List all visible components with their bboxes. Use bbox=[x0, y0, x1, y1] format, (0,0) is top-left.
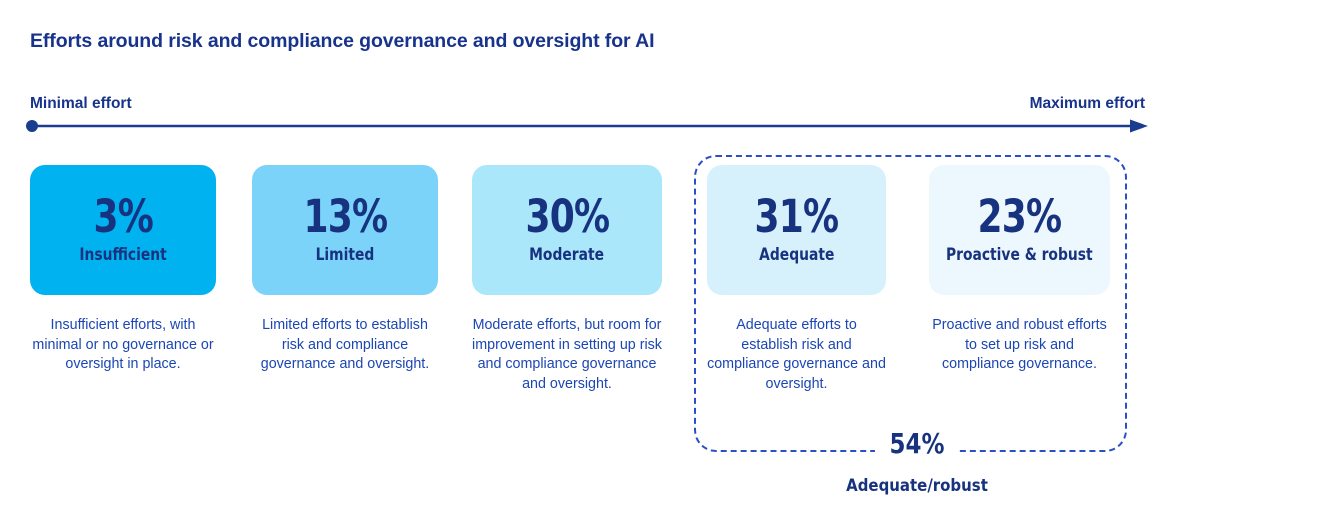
effort-card-limited[interactable]: 13% Limited Limited efforts to establish… bbox=[252, 165, 438, 375]
effort-percent: 23% bbox=[978, 196, 1062, 239]
effort-level-name: Insufficient bbox=[79, 245, 166, 264]
effort-card-adequate[interactable]: 31% Adequate Adequate efforts to establi… bbox=[707, 165, 886, 395]
effort-description: Limited efforts to establish risk and co… bbox=[252, 316, 438, 375]
effort-percent: 31% bbox=[755, 196, 839, 239]
effort-card-proactive-robust[interactable]: 23% Proactive & robust Proactive and rob… bbox=[929, 165, 1110, 375]
effort-tile-limited[interactable]: 13% Limited bbox=[252, 165, 438, 295]
effort-level-name: Moderate bbox=[530, 245, 605, 264]
effort-card-insufficient[interactable]: 3% Insufficient Insufficient efforts, wi… bbox=[30, 165, 216, 375]
effort-description: Adequate efforts to establish risk and c… bbox=[707, 316, 886, 395]
effort-description: Moderate efforts, but room for improveme… bbox=[467, 316, 667, 395]
effort-tile-proactive-robust[interactable]: 23% Proactive & robust bbox=[929, 165, 1110, 295]
group-total-percent: 54% bbox=[880, 430, 954, 458]
effort-percent: 3% bbox=[93, 196, 153, 239]
effort-level-name: Adequate bbox=[759, 245, 834, 264]
effort-description: Proactive and robust efforts to set up r… bbox=[929, 316, 1110, 375]
effort-level-name: Proactive & robust bbox=[946, 245, 1093, 264]
effort-percent: 13% bbox=[303, 196, 387, 239]
effort-tile-adequate[interactable]: 31% Adequate bbox=[707, 165, 886, 295]
effort-description: Insufficient efforts, with minimal or no… bbox=[30, 316, 216, 375]
effort-tile-insufficient[interactable]: 3% Insufficient bbox=[30, 165, 216, 295]
effort-cards-band: 3% Insufficient Insufficient efforts, wi… bbox=[0, 0, 1335, 519]
effort-tile-moderate[interactable]: 30% Moderate bbox=[472, 165, 662, 295]
effort-percent: 30% bbox=[525, 196, 609, 239]
group-total-label: Adequate/robust bbox=[811, 476, 1022, 496]
effort-card-moderate[interactable]: 30% Moderate Moderate efforts, but room … bbox=[472, 165, 662, 395]
effort-level-name: Limited bbox=[316, 245, 375, 264]
